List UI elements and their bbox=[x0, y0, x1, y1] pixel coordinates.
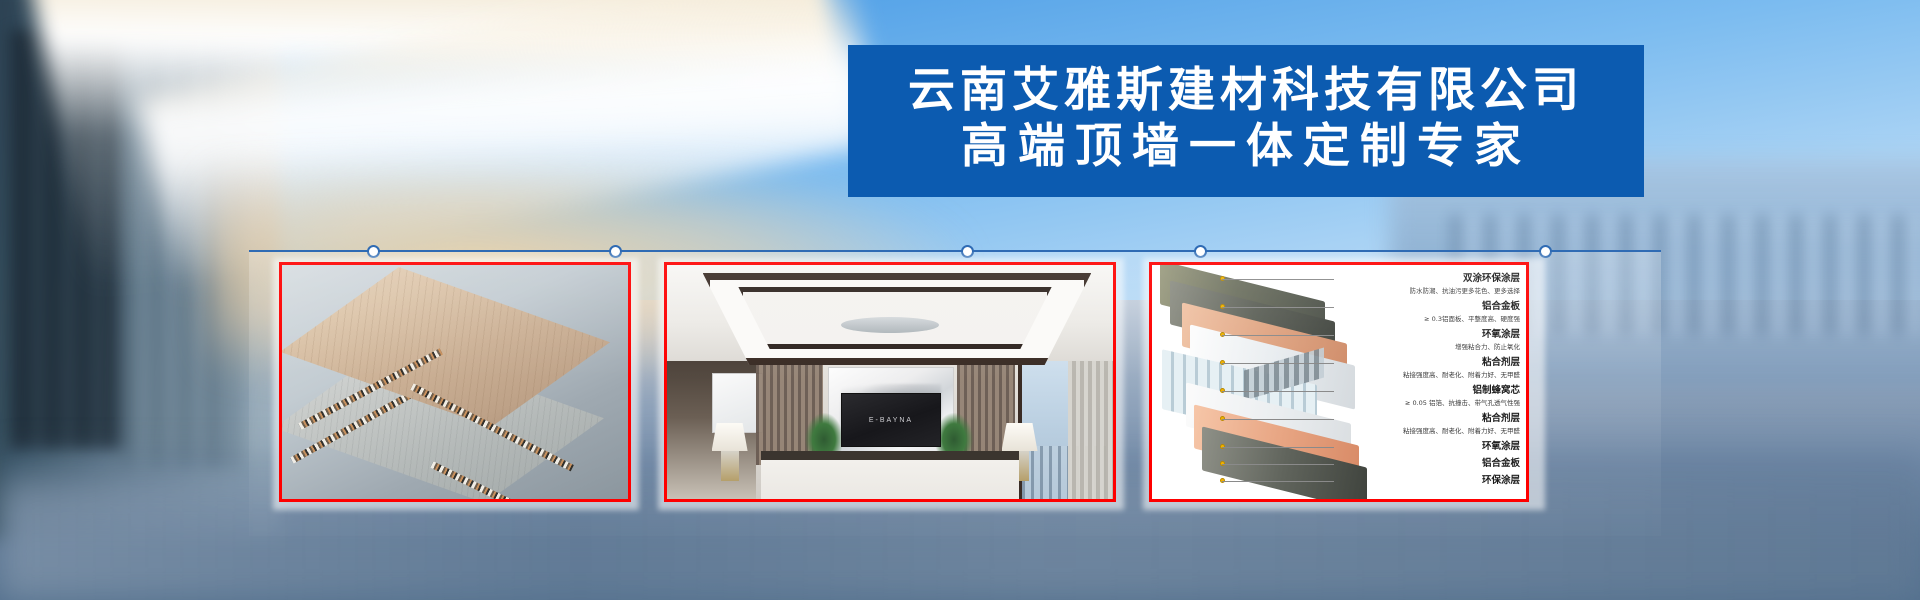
lamp-shade-left bbox=[712, 423, 748, 451]
layer-legend-row: 环氧涂层 bbox=[1334, 441, 1520, 453]
layer-desc: ≥ 0.05 铝箔、抗撞击、带气孔透气性强 bbox=[1334, 398, 1520, 408]
layer-title: 双涂环保涂层 bbox=[1334, 273, 1520, 285]
layer-legend-row: 铝合金板 ≥ 0.3铝面板、平整度高、硬度强 bbox=[1334, 301, 1520, 324]
panel-interior-render[interactable]: E-BAYNA bbox=[664, 262, 1116, 502]
layer-legend-row: 双涂环保涂层 防水防潮、抗油污更多花色、更多选择 bbox=[1334, 273, 1520, 296]
interior-ceiling-light bbox=[841, 317, 939, 333]
interior-table-lamp-left bbox=[712, 423, 748, 481]
product-gallery-frame: E-BAYNA bbox=[249, 250, 1661, 536]
layer-legend-row: 环保涂层 bbox=[1334, 475, 1520, 487]
gallery-panels: E-BAYNA bbox=[249, 252, 1661, 538]
layer-title: 粘合剂层 bbox=[1334, 413, 1520, 425]
layer-legend-row: 粘合剂层 粘接强度高、耐老化、附着力好、无甲醛 bbox=[1334, 357, 1520, 380]
callout-leader-line bbox=[1222, 419, 1334, 420]
layer-title: 铝制蜂窝芯 bbox=[1334, 385, 1520, 397]
panel-layer-diagram[interactable]: 双涂环保涂层 防水防潮、抗油污更多花色、更多选择 铝合金板 ≥ 0.3铝面板、平… bbox=[1149, 262, 1529, 502]
company-name-line: 云南艾雅斯建材科技有限公司 bbox=[908, 65, 1584, 118]
callout-leader-line bbox=[1222, 447, 1334, 448]
panel-honeycomb-board[interactable] bbox=[279, 262, 631, 502]
layer-title: 铝合金板 bbox=[1334, 301, 1520, 313]
layer-legend-row: 粘合剂层 粘接强度高、耐老化、附着力好、无甲醛 bbox=[1334, 413, 1520, 436]
layer-desc: ≥ 0.3铝面板、平整度高、硬度强 bbox=[1334, 314, 1520, 324]
layer-legend-row: 铝制蜂窝芯 ≥ 0.05 铝箔、抗撞击、带气孔透气性强 bbox=[1334, 385, 1520, 408]
lamp-shade-right bbox=[1002, 423, 1038, 451]
callout-leader-line bbox=[1222, 481, 1334, 482]
interior-reception-desk bbox=[761, 451, 1020, 502]
layer-legend-row: 铝合金板 bbox=[1334, 458, 1520, 470]
layer-desc: 粘接强度高、耐老化、附着力好、无甲醛 bbox=[1334, 370, 1520, 380]
callout-leader-line bbox=[1222, 363, 1334, 364]
layer-desc: 粘接强度高、耐老化、附着力好、无甲醛 bbox=[1334, 426, 1520, 436]
company-slogan-line: 高端顶墙一体定制专家 bbox=[961, 120, 1531, 174]
lamp-base-left bbox=[721, 451, 739, 481]
interior-curtain bbox=[1068, 353, 1113, 502]
callout-leader-line bbox=[1222, 335, 1334, 336]
layer-diagram-scene: 双涂环保涂层 防水防潮、抗油污更多花色、更多选择 铝合金板 ≥ 0.3铝面板、平… bbox=[1152, 265, 1526, 499]
layer-legend: 双涂环保涂层 防水防潮、抗油污更多花色、更多选择 铝合金板 ≥ 0.3铝面板、平… bbox=[1334, 273, 1520, 492]
layer-title: 粘合剂层 bbox=[1334, 357, 1520, 369]
interior-tv-screen: E-BAYNA bbox=[841, 393, 941, 447]
company-headline-banner: 云南艾雅斯建材科技有限公司 高端顶墙一体定制专家 bbox=[848, 45, 1644, 197]
layer-desc: 增强粘合力、防止氧化 bbox=[1334, 342, 1520, 352]
callout-leader-line bbox=[1222, 279, 1334, 280]
layer-legend-row: 环氧涂层 增强粘合力、防止氧化 bbox=[1334, 329, 1520, 352]
layer-title: 铝合金板 bbox=[1334, 458, 1520, 470]
hero-banner-stage: 云南艾雅斯建材科技有限公司 高端顶墙一体定制专家 bbox=[0, 0, 1920, 600]
callout-leader-line bbox=[1222, 464, 1334, 465]
callout-leader-line bbox=[1222, 307, 1334, 308]
interior-scene: E-BAYNA bbox=[667, 265, 1113, 499]
layer-title: 环氧涂层 bbox=[1334, 441, 1520, 453]
layer-stack-illustration bbox=[1160, 275, 1360, 495]
tv-screen-brand-text: E-BAYNA bbox=[869, 417, 913, 424]
layer-title: 环氧涂层 bbox=[1334, 329, 1520, 341]
layer-title: 环保涂层 bbox=[1334, 475, 1520, 487]
callout-leader-line bbox=[1222, 391, 1334, 392]
layer-desc: 防水防潮、抗油污更多花色、更多选择 bbox=[1334, 286, 1520, 296]
